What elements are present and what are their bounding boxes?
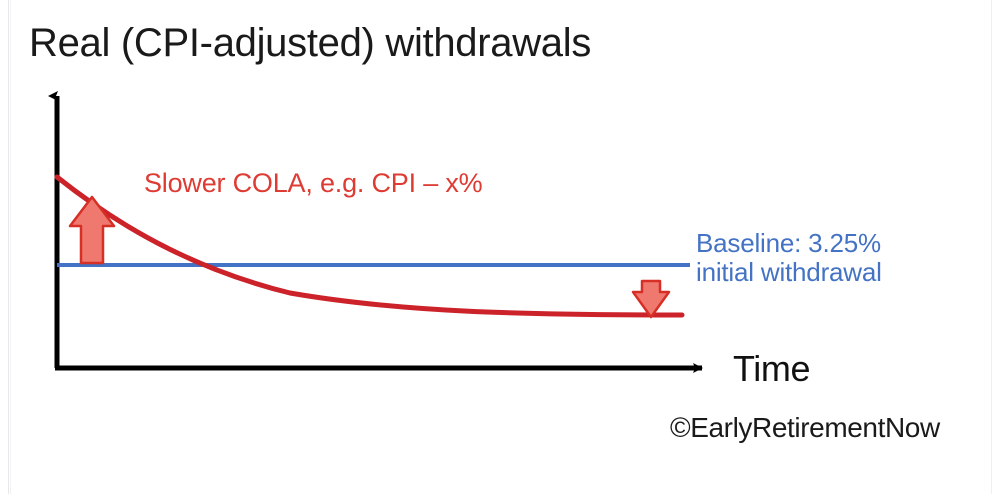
page-title: Real (CPI-adjusted) withdrawals: [29, 21, 591, 66]
baseline-annotation-label: Baseline: 3.25%initial withdrawal: [696, 229, 882, 287]
baseline-label-line-2: initial withdrawal: [696, 258, 882, 287]
copyright-credit: ©EarlyRetirementNow: [670, 412, 940, 443]
x-axis-label: Time: [733, 349, 810, 389]
down-arrow-icon: [633, 281, 669, 317]
baseline-label-line-1: Baseline: 3.25%: [696, 228, 881, 258]
up-arrow-icon: [70, 197, 114, 263]
curve-annotation-label: Slower COLA, e.g. CPI – x%: [144, 168, 482, 198]
slide-canvas: Real (CPI-adjusted) withdrawals Slower C…: [0, 0, 1000, 494]
